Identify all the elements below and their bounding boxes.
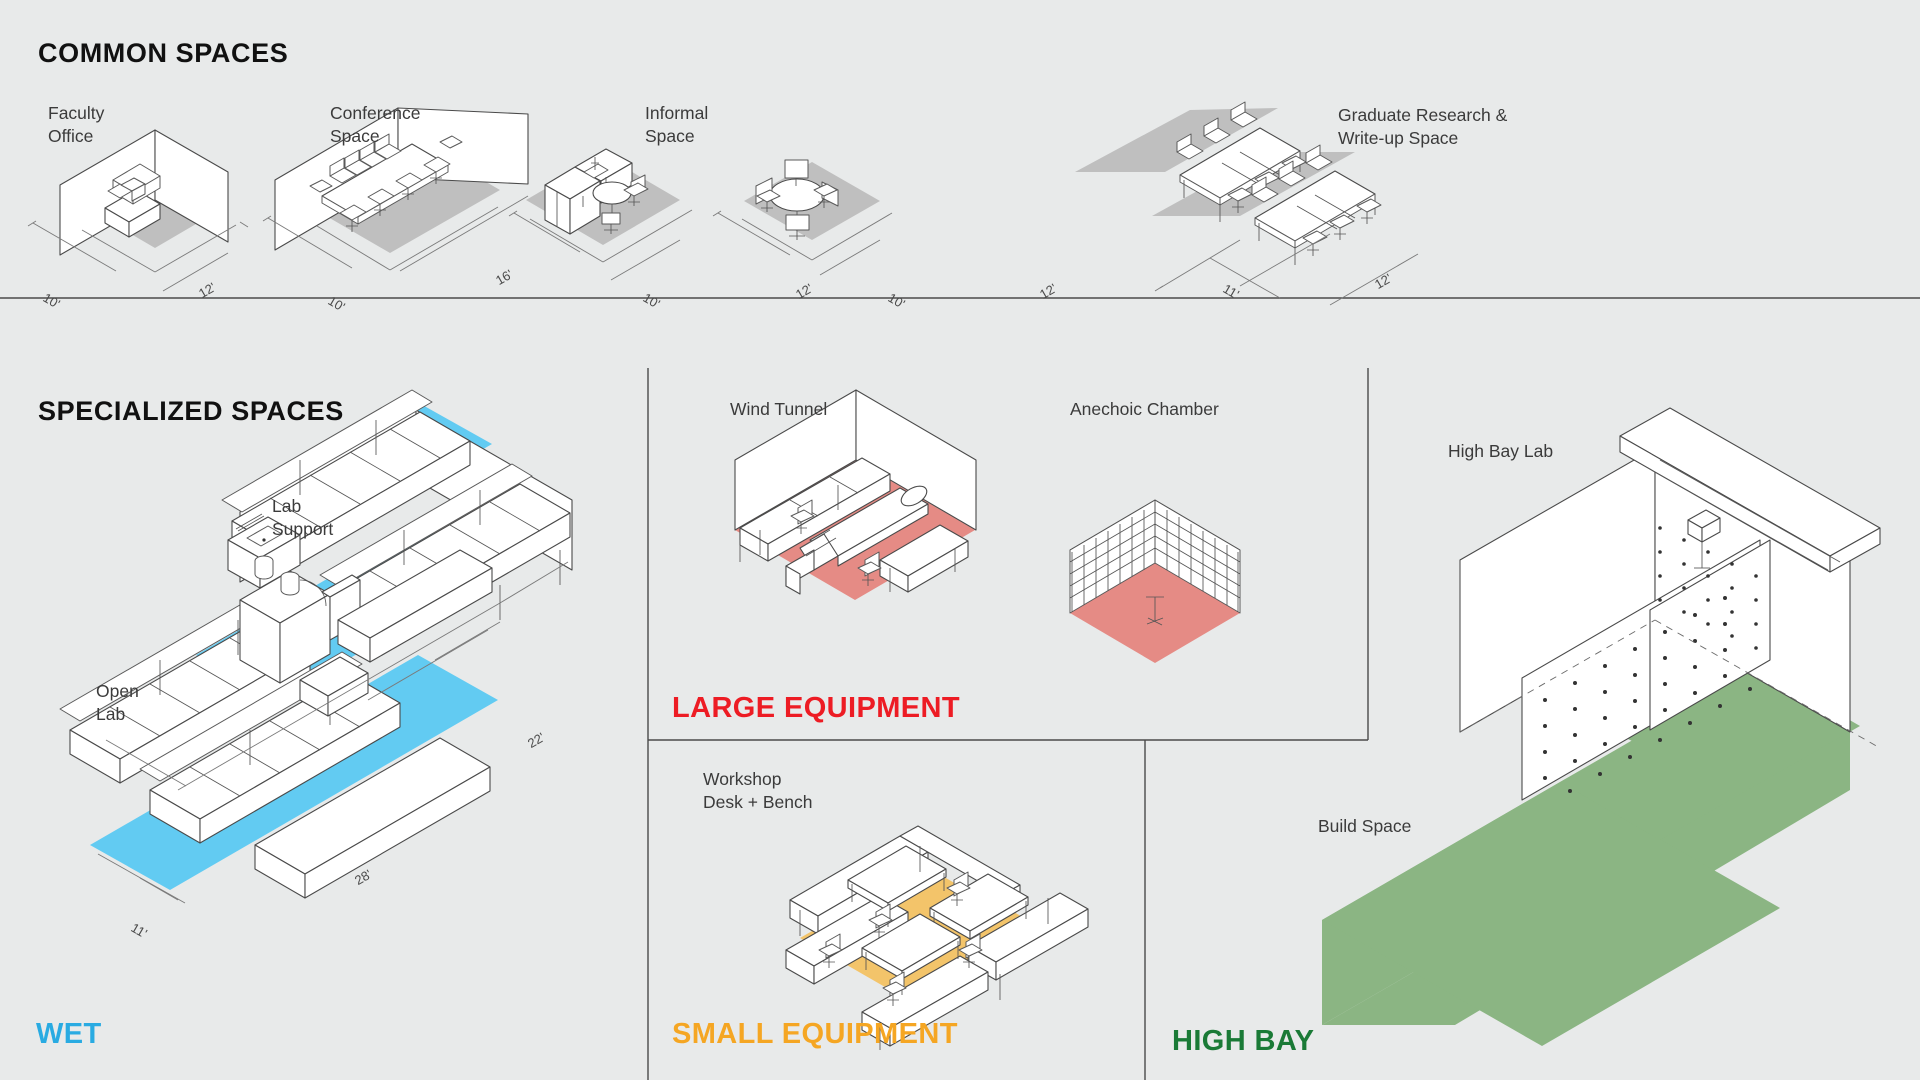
- room-high-bay: [1322, 408, 1880, 1046]
- section-title-common: COMMON SPACES: [38, 38, 288, 69]
- room-label-graduate-research: Graduate Research & Write-up Space: [1338, 104, 1507, 150]
- room-label-wind-tunnel: Wind Tunnel: [730, 398, 827, 421]
- room-faculty-office: [28, 130, 248, 291]
- room-wind-tunnel: [735, 390, 976, 600]
- room-informal-space-round: [713, 160, 892, 275]
- section-title-specialized: SPECIALIZED SPACES: [38, 396, 344, 427]
- room-label-high-bay-lab: High Bay Lab: [1448, 440, 1553, 463]
- diagram-canvas: .w{fill:#ffffff;stroke:#4a4a4a;stroke-wi…: [0, 0, 1920, 1080]
- room-label-open-lab: Open Lab: [96, 680, 139, 726]
- room-anechoic-chamber: [1070, 500, 1240, 663]
- category-label-high-bay: HIGH BAY: [1172, 1025, 1314, 1058]
- room-label-anechoic-chamber: Anechoic Chamber: [1070, 398, 1219, 421]
- room-label-informal-space: Informal Space: [645, 102, 708, 148]
- room-label-build-space: Build Space: [1318, 815, 1411, 838]
- room-workshop: [786, 826, 1088, 1050]
- category-label-wet: WET: [36, 1018, 102, 1051]
- room-wet-lab: [60, 390, 572, 903]
- category-label-large-equipment: LARGE EQUIPMENT: [672, 692, 960, 725]
- room-label-faculty-office: Faculty Office: [48, 102, 104, 148]
- room-label-workshop: Workshop Desk + Bench: [703, 768, 812, 814]
- room-label-conference-space: Conference Space: [330, 102, 420, 148]
- category-label-small-equipment: SMALL EQUIPMENT: [672, 1018, 958, 1051]
- room-informal-space: [509, 149, 692, 280]
- room-label-lab-support: Lab Support: [272, 495, 333, 541]
